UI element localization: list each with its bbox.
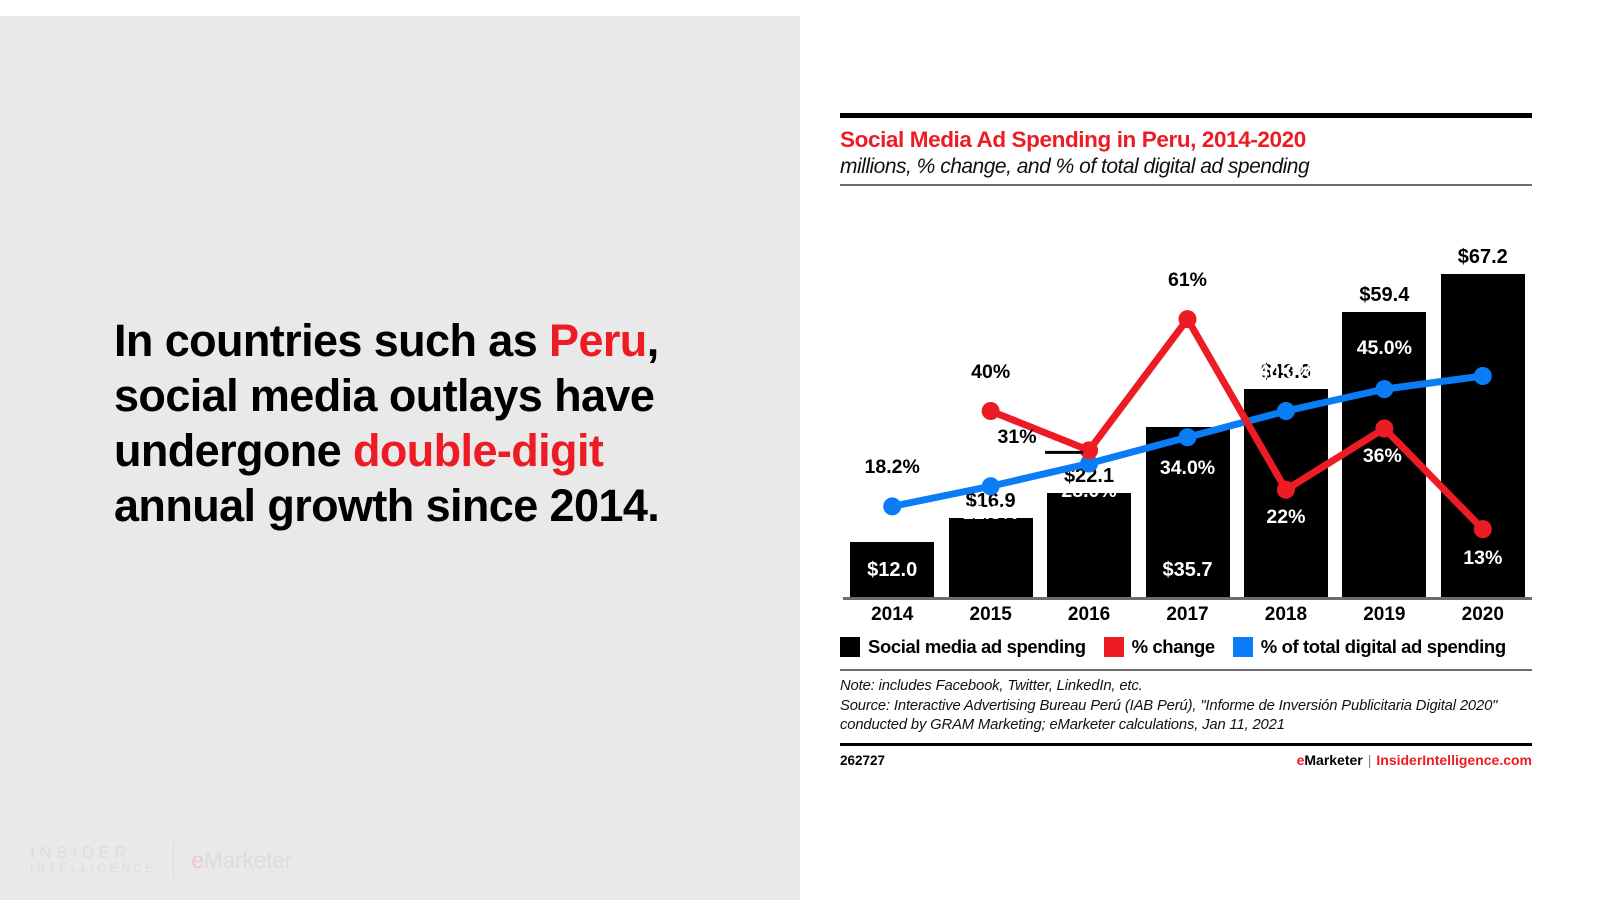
pct-change-label-2015: 40% <box>971 361 1010 384</box>
chart-footer: 262727 eMarketer|InsiderIntelligence.com <box>840 752 1532 768</box>
chart-id: 262727 <box>840 753 885 768</box>
headline-segment-0: In countries such as <box>114 315 549 366</box>
pct-change-label-2016: 31% <box>998 426 1037 449</box>
share-label-2018: 40.0% <box>1258 361 1313 384</box>
subtitle-rule <box>840 184 1532 186</box>
insider-line1: INSIDER <box>30 843 156 863</box>
plot-area: $12.0$16.9$22.1$35.7$43.6$59.4$67.2 40%3… <box>840 190 1532 600</box>
emarketer-e: e <box>191 847 204 873</box>
footer-branding: eMarketer|InsiderIntelligence.com <box>1297 752 1532 768</box>
chart-subtitle: millions, % change, and % of total digit… <box>840 155 1532 179</box>
share-label-2020: 48.0% <box>1455 324 1510 347</box>
pctchange-point-0 <box>982 402 1000 420</box>
x-axis-ticks: 2014201520162017201820192020 <box>840 600 1532 630</box>
legend-swatch-icon-2 <box>1233 637 1253 657</box>
pctchange-point-2 <box>1179 310 1197 328</box>
notes-rule <box>840 669 1532 671</box>
insider-wordmark: INSIDER INTELLIGENCE <box>30 843 156 877</box>
headline-segment-4: annual growth since 2014. <box>114 480 659 531</box>
legend-item-1[interactable]: % change <box>1104 636 1215 658</box>
insider-intelligence-logo: INSIDER INTELLIGENCE eMarketer <box>30 841 292 879</box>
x-tick-2015: 2015 <box>970 604 1012 626</box>
share-point-4 <box>1277 402 1295 420</box>
insider-line2: INTELLIGENCE <box>30 863 156 877</box>
x-tick-2016: 2016 <box>1068 604 1110 626</box>
pct-change-label-2018: 22% <box>1266 506 1305 529</box>
share-point-3 <box>1179 428 1197 446</box>
headline-segment-3: double-digit <box>353 425 603 476</box>
emarketer-wordmark: eMarketer <box>191 847 292 874</box>
legend-swatch-icon-0 <box>840 637 860 657</box>
share-label-2015: 22.8% <box>963 502 1018 525</box>
note-line: Note: includes Facebook, Twitter, Linked… <box>840 677 1532 697</box>
footer-separator: | <box>1368 752 1372 768</box>
x-tick-2019: 2019 <box>1363 604 1405 626</box>
legend-label-2: % of total digital ad spending <box>1261 636 1506 658</box>
plot-inner: $12.0$16.9$22.1$35.7$43.6$59.4$67.2 40%3… <box>843 190 1532 600</box>
chart-legend: Social media ad spending% change% of tot… <box>840 636 1532 658</box>
share-point-0 <box>883 497 901 515</box>
x-tick-2020: 2020 <box>1462 604 1504 626</box>
legend-item-2[interactable]: % of total digital ad spending <box>1233 636 1506 658</box>
left-text-panel: In countries such as Peru, social media … <box>0 16 800 900</box>
footer-emarketer-rest: Marketer <box>1304 752 1362 768</box>
x-tick-2017: 2017 <box>1166 604 1208 626</box>
share-label-2019: 45.0% <box>1357 337 1412 360</box>
legend-swatch-icon-1 <box>1104 637 1124 657</box>
logo-divider <box>173 841 174 879</box>
share-point-1 <box>982 477 1000 495</box>
pct-change-label-2019: 36% <box>1363 445 1402 468</box>
emarketer-rest: Marketer <box>204 847 292 873</box>
pct-change-label-2017: 61% <box>1168 269 1207 292</box>
footer-rule <box>840 743 1532 746</box>
share-label-2017: 34.0% <box>1160 457 1215 480</box>
pctchange-point-4 <box>1375 420 1393 438</box>
chart-card: Social Media Ad Spending in Peru, 2014-2… <box>840 113 1532 768</box>
pctchange-point-3 <box>1277 481 1295 499</box>
share-point-5 <box>1375 380 1393 398</box>
source-line: Source: Interactive Advertising Bureau P… <box>840 697 1532 736</box>
slide-root: In countries such as Peru, social media … <box>0 0 1600 900</box>
x-tick-2018: 2018 <box>1265 604 1307 626</box>
pct-change-label-2020: 13% <box>1463 547 1502 570</box>
x-tick-2014: 2014 <box>871 604 913 626</box>
line-series-svg <box>843 190 1532 600</box>
share-point-6 <box>1474 367 1492 385</box>
footer-site-link[interactable]: InsiderIntelligence.com <box>1376 752 1532 768</box>
pctchange-point-1 <box>1080 441 1098 459</box>
chart-title: Social Media Ad Spending in Peru, 2014-2… <box>840 127 1532 153</box>
legend-label-0: Social media ad spending <box>868 636 1086 658</box>
top-rule <box>840 113 1532 118</box>
legend-item-0[interactable]: Social media ad spending <box>840 636 1086 658</box>
pctchange-point-5 <box>1474 520 1492 538</box>
headline: In countries such as Peru, social media … <box>114 314 714 534</box>
share-label-2016: 28.0% <box>1061 480 1116 503</box>
legend-label-1: % change <box>1132 636 1215 658</box>
share-label-2014: 18.2% <box>865 456 920 479</box>
headline-segment-1: Peru <box>549 315 647 366</box>
chart-notes: Note: includes Facebook, Twitter, Linked… <box>840 677 1532 736</box>
